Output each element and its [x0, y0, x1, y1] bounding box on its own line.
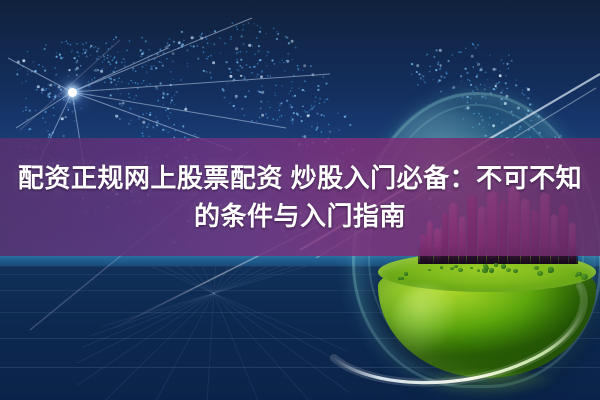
banner-stage: 配资正规网上股票配资 炒股入门必备：不可不知 的条件与入门指南	[0, 0, 600, 400]
tree	[477, 269, 481, 272]
tree	[534, 266, 539, 270]
tree	[537, 271, 543, 276]
tree	[454, 265, 458, 268]
tree	[494, 263, 498, 267]
banner-title: 配资正规网上股票配资 炒股入门必备：不可不知 的条件与入门指南	[0, 138, 600, 256]
tree	[489, 268, 494, 273]
tree	[575, 274, 578, 277]
tree	[506, 268, 511, 272]
tree	[581, 274, 588, 280]
tree	[484, 266, 489, 270]
tree	[440, 266, 444, 269]
hemisphere-reflection	[408, 372, 566, 398]
tree	[458, 268, 463, 272]
tree	[513, 269, 518, 273]
tree	[404, 272, 408, 276]
network-hub-node	[68, 88, 77, 97]
title-line-1: 配资正规网上股票配资 炒股入门必备：不可不知	[18, 161, 582, 195]
tree	[501, 264, 506, 268]
tree	[428, 269, 431, 272]
title-line-2: 的条件与入门指南	[194, 199, 406, 233]
tree	[399, 277, 404, 281]
tree	[548, 267, 554, 272]
hemisphere-highlight	[394, 286, 460, 358]
tree	[470, 267, 473, 270]
